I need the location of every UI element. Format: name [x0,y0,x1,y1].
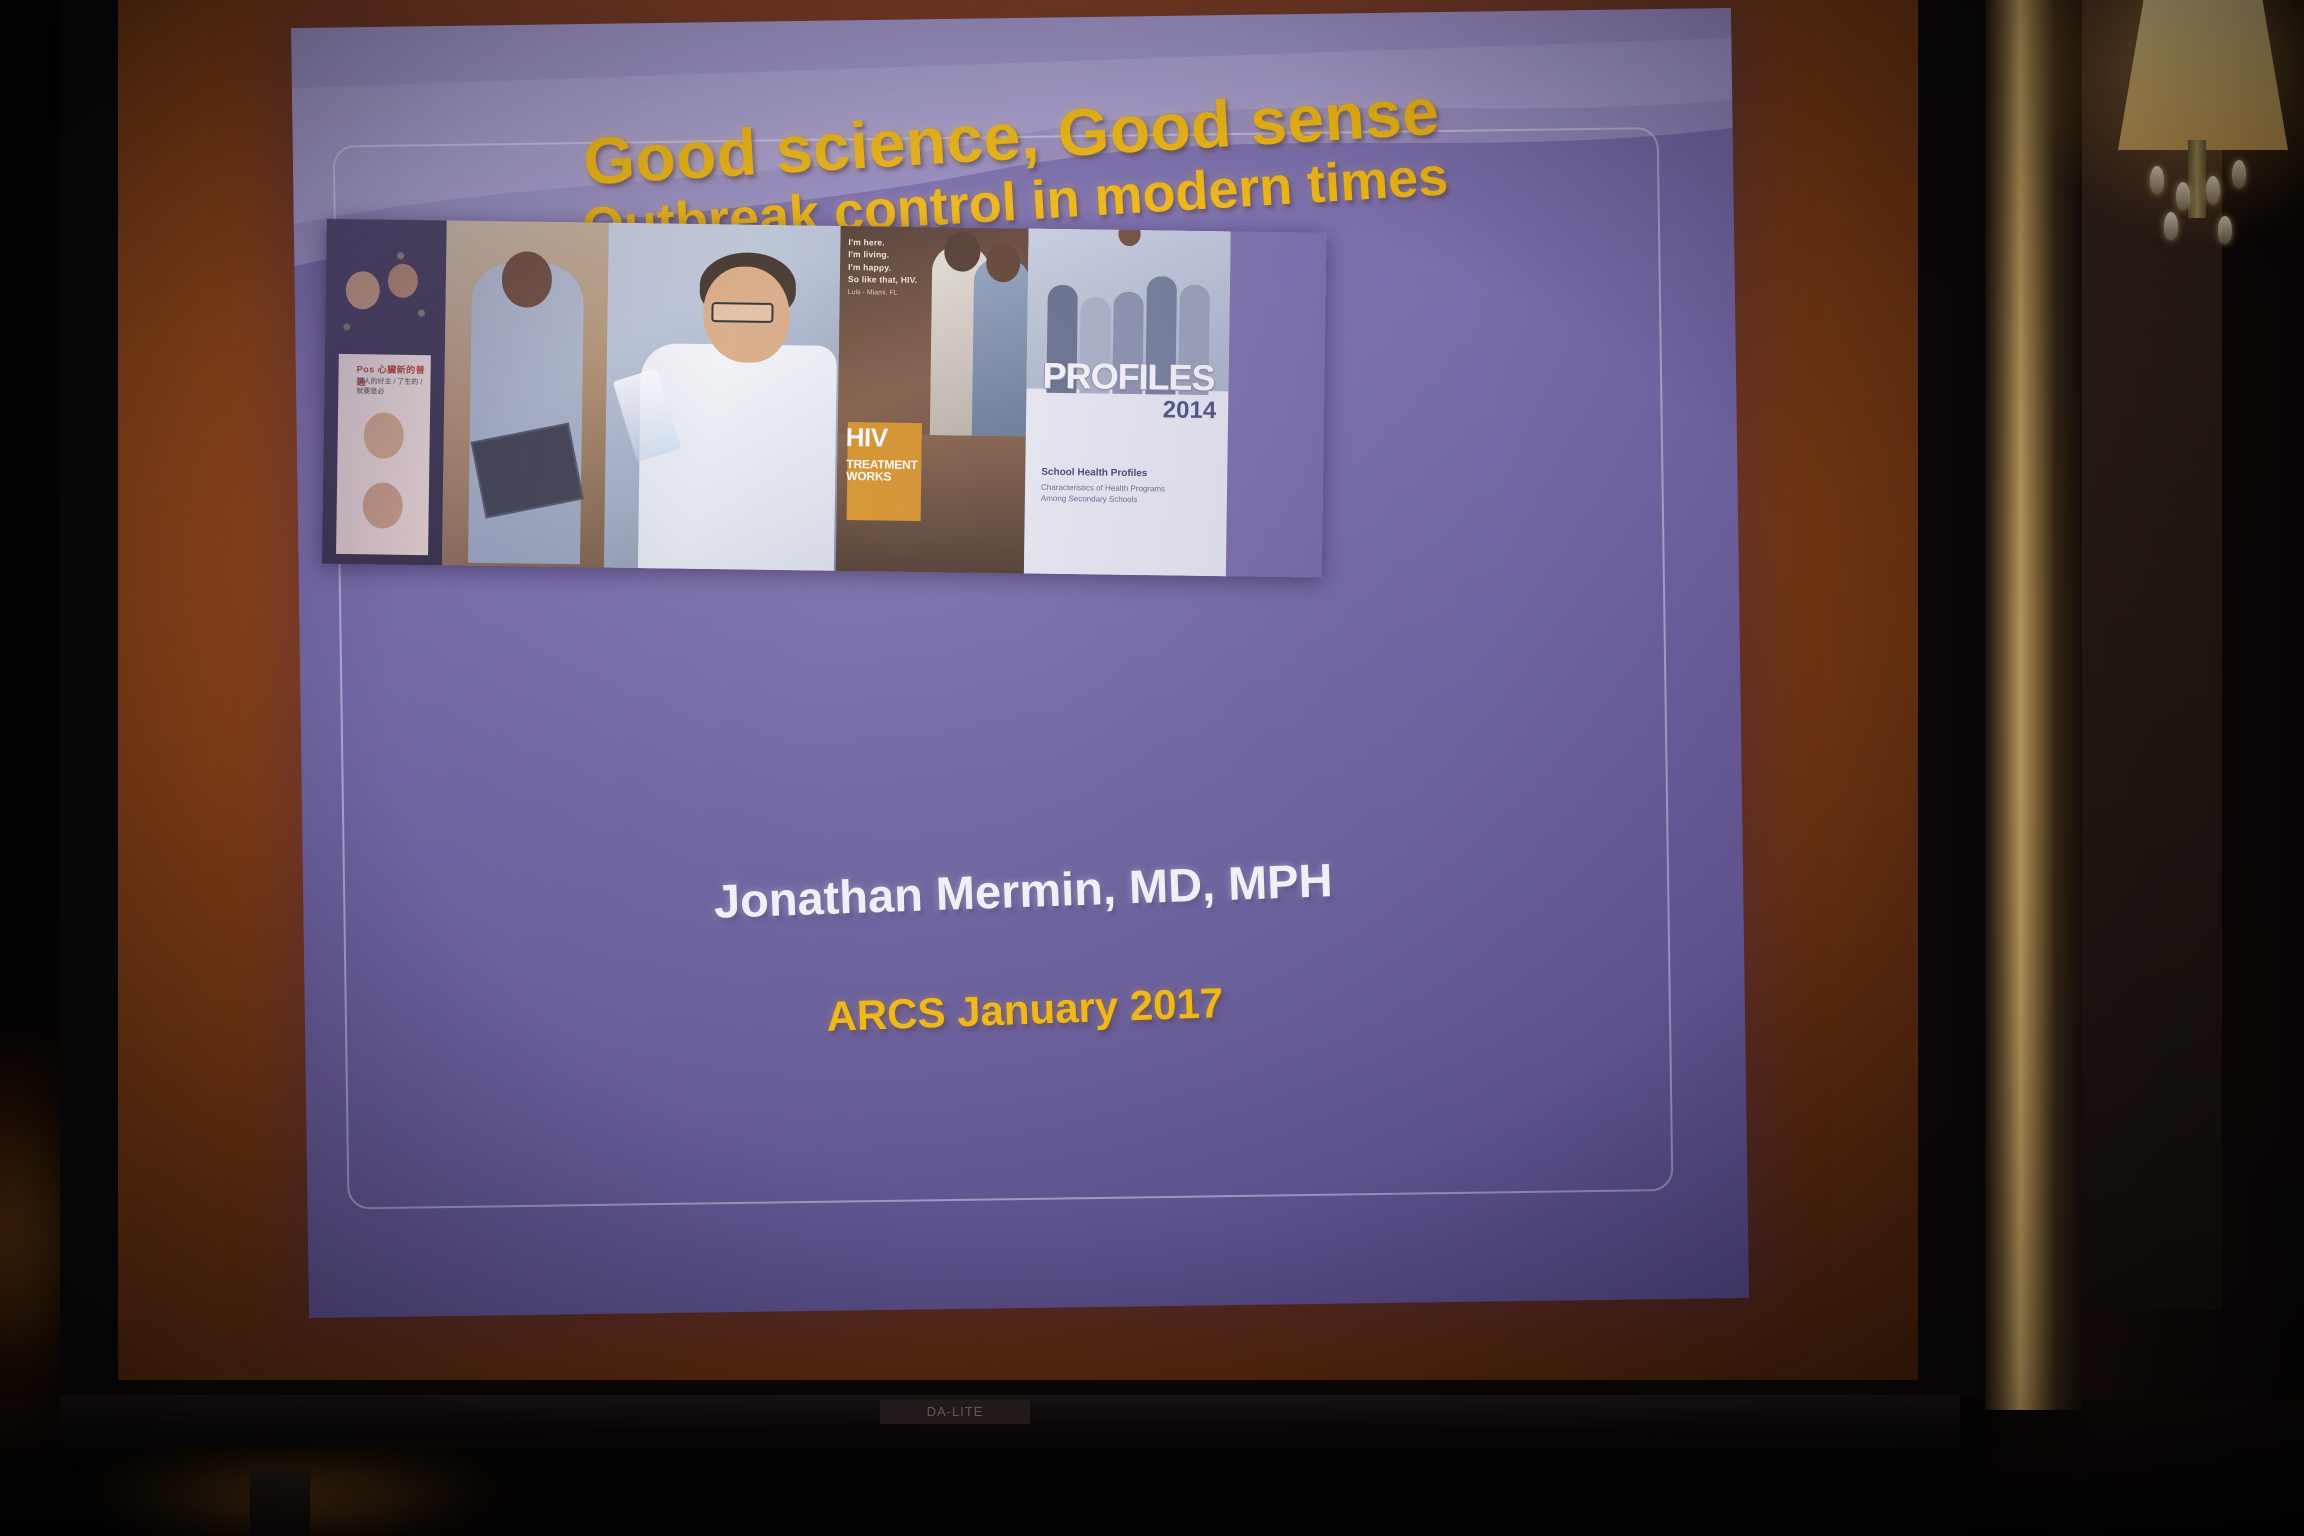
flyer-portrait [362,482,403,529]
bokeh-lights [325,219,447,371]
crystal-droplet [2232,160,2246,188]
crystal-droplet [2150,166,2164,194]
lamp-arm [2188,140,2206,218]
campaign-quote-line3: I'm happy. [848,261,940,275]
worker-body [468,263,584,565]
photo-collage-strip: Pos 心臟新的普通 那人的好主 / 了生的 / 就要是必 [322,219,1327,578]
lamp-shade [2118,0,2288,150]
campaign-attribution: Luis - Miami, FL [848,288,940,299]
collage-photo-profiles-report: PROFILES 2014 School Health Profiles Cha… [1024,229,1231,577]
collage-photo-poster-flyer: Pos 心臟新的普通 那人的好主 / 了生的 / 就要是必 [322,219,447,566]
collage-photo-lab-scientist [604,223,841,571]
campaign-quote-line4: So like that, HIV. [848,273,940,287]
crystal-droplet [2218,216,2232,244]
report-subtitle-line2: Among Secondary Schools [1041,494,1201,507]
wall-sconce-lamp [2110,0,2300,330]
crystal-droplet [2176,182,2190,210]
projector-screen-stand-leg [250,1470,310,1536]
hiv-badge-line-works: WORKS [846,470,924,483]
flyer-subtext-cn: 那人的好主 / 了生的 / 就要是必 [356,376,430,397]
report-title: School Health Profiles [1041,467,1147,479]
safety-glasses-icon [711,302,773,323]
hiv-badge-title: HIV [846,426,924,451]
hiv-badge-subtitle: TREATMENT WORKS [846,458,924,483]
lab-coat [638,343,837,571]
presentation-slide: Good science, Good sense Outbreak contro… [291,8,1749,1318]
conference-room-photo: Good science, Good sense Outbreak contro… [0,0,2304,1536]
campaign-quote: I'm here. I'm living. I'm happy. So like… [848,236,941,287]
person-b-body [972,258,1029,439]
collage-photo-health-worker [442,220,609,567]
collage-photo-hiv-campaign: I'm here. I'm living. I'm happy. So like… [836,226,1029,574]
campaign-quote-line2: I'm living. [848,248,940,262]
report-cover-year: 2014 [1163,396,1217,425]
flyer-portrait [363,412,404,459]
crystal-droplet [2164,212,2178,240]
report-subtitle: Characteristics of Health Programs Among… [1041,483,1201,507]
flyer-card: Pos 心臟新的普通 那人的好主 / 了生的 / 就要是必 [336,354,431,555]
projector-screen-brand-label: DA-LITE [880,1400,1030,1424]
crystal-droplet [2206,176,2220,204]
report-cover-title: PROFILES [1024,354,1231,399]
